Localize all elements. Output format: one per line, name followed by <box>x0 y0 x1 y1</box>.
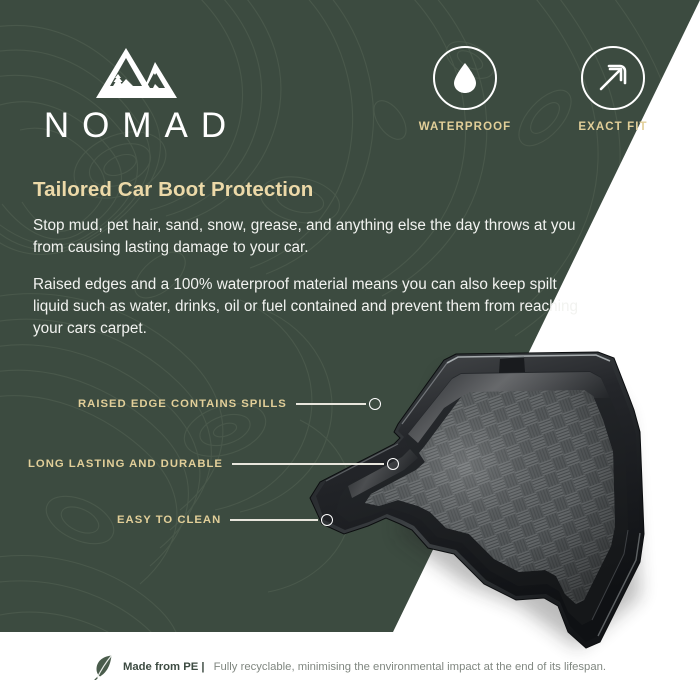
callout-label: LONG LASTING AND DURABLE <box>28 458 223 470</box>
body-paragraph-2: Raised edges and a 100% waterproof mater… <box>33 274 593 339</box>
badge-exact-fit: EXACT FIT <box>566 46 660 133</box>
advertisement-banner: NOMAD WATERPROOF EXACT FI <box>0 0 700 700</box>
footer-bar: Made from PE | Fully recyclable, minimis… <box>0 634 700 700</box>
leaf-icon <box>94 654 114 680</box>
badge-ring <box>433 46 497 110</box>
callout-long-lasting: LONG LASTING AND DURABLE <box>28 456 399 472</box>
water-droplet-icon <box>452 62 478 94</box>
brand-name: NOMAD <box>26 108 246 143</box>
callout-label: EASY TO CLEAN <box>117 514 221 526</box>
body-paragraph-1: Stop mud, pet hair, sand, snow, grease, … <box>33 215 593 258</box>
badge-label: WATERPROOF <box>418 121 512 133</box>
leader-dot <box>387 458 399 470</box>
callout-raised-edge: RAISED EDGE CONTAINS SPILLS <box>78 396 381 412</box>
leader-line <box>232 463 384 464</box>
mountain-peaks-icon <box>93 46 179 102</box>
footer-text: Fully recyclable, minimising the environ… <box>214 661 606 673</box>
feature-badges: WATERPROOF EXACT FIT <box>418 46 668 133</box>
leader-line <box>296 403 366 404</box>
callout-label: RAISED EDGE CONTAINS SPILLS <box>78 398 287 410</box>
leader-dot <box>321 514 333 526</box>
leader-dot <box>369 398 381 410</box>
footer-bold-text: Made from PE | <box>123 661 205 673</box>
page-title: Tailored Car Boot Protection <box>33 178 593 202</box>
badge-ring <box>581 46 645 110</box>
brand-logo: NOMAD <box>26 46 246 143</box>
callout-easy-to-clean: EASY TO CLEAN <box>117 512 333 528</box>
badge-label: EXACT FIT <box>566 121 660 133</box>
arrow-to-corner-icon <box>596 61 630 95</box>
leader-line <box>230 519 318 520</box>
badge-waterproof: WATERPROOF <box>418 46 512 133</box>
copy-block: Tailored Car Boot Protection Stop mud, p… <box>33 178 593 356</box>
